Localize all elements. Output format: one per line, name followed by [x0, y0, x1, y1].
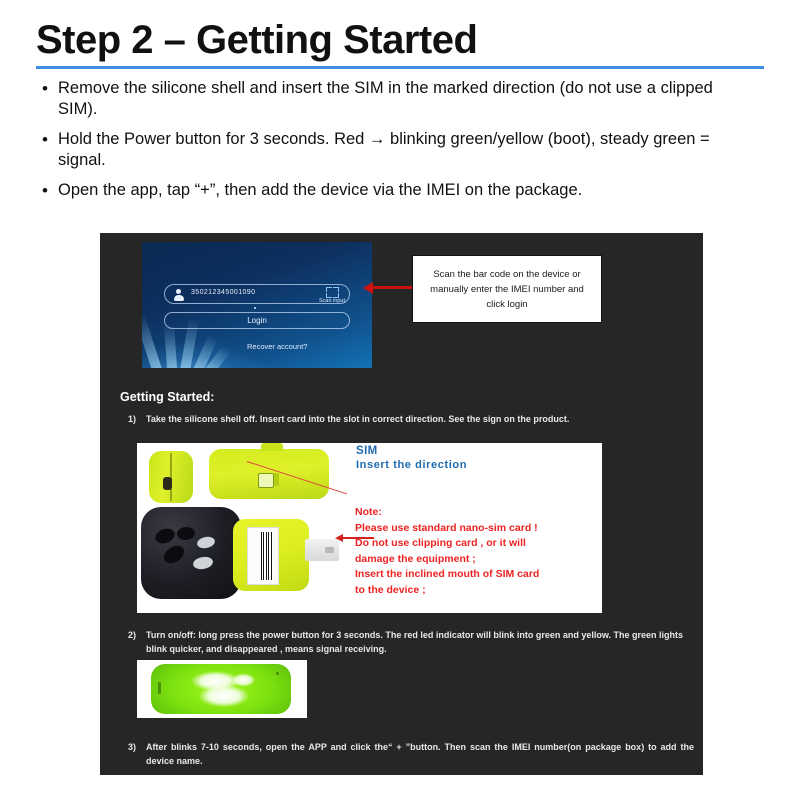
glowing-device	[151, 664, 291, 714]
sim-card	[305, 539, 339, 561]
bullet-list: • Remove the silicone shell and insert t…	[36, 78, 756, 210]
list-item: • Remove the silicone shell and insert t…	[36, 78, 756, 120]
green-led-device-photo	[137, 660, 307, 718]
sim-label-subtitle: Insert the direction	[356, 459, 467, 471]
bullet-text: Hold the Power button for 3 seconds. Red…	[58, 129, 738, 171]
login-button[interactable]: Login	[164, 312, 350, 329]
manual-step-2: 2) Turn on/off: long press the power but…	[120, 629, 694, 656]
note-line: to the device ;	[355, 583, 595, 599]
device-top-view	[209, 449, 329, 499]
note-line: Insert the inclined mouth of SIM card	[355, 567, 595, 583]
embedded-manual-panel: 350212345001090 Scan input Login Recover…	[100, 233, 703, 775]
note-line: Please use standard nano-sim card !	[355, 521, 595, 537]
bullet-marker-icon: •	[36, 78, 58, 99]
bullet-text: Open the app, tap “+”, then add the devi…	[58, 180, 582, 201]
silicone-shell-photo	[141, 507, 241, 599]
device-side-view	[149, 451, 193, 503]
login-screen-screenshot: 350212345001090 Scan input Login Recover…	[142, 242, 372, 368]
step-text: Take the silicone shell off. Insert card…	[146, 413, 694, 427]
note-line: Do not use clipping card , or it will	[355, 536, 595, 552]
recover-account-link[interactable]: Recover account?	[247, 342, 307, 351]
callout-text: Scan the bar code on the device or manua…	[413, 267, 601, 312]
getting-started-heading: Getting Started:	[120, 390, 214, 404]
bullet-marker-icon: •	[36, 129, 58, 150]
separator-dot	[254, 307, 256, 309]
step-number: 2)	[120, 629, 146, 656]
title-divider	[36, 66, 764, 69]
page-title: Step 2 – Getting Started	[36, 18, 776, 62]
imei-input[interactable]: 350212345001090 Scan input	[164, 284, 350, 304]
step-text: After blinks 7-10 seconds, open the APP …	[146, 741, 694, 768]
sim-note-text: Note: Please use standard nano-sim card …	[355, 505, 595, 598]
imei-input-value: 350212345001090	[191, 289, 255, 296]
barcode-label	[247, 527, 279, 585]
light-ray-decoration	[164, 324, 178, 368]
scan-input-label: Scan input	[319, 298, 345, 304]
note-line: Note:	[355, 505, 595, 521]
step-number: 1)	[120, 413, 146, 427]
bullet-marker-icon: •	[36, 180, 58, 201]
callout-box: Scan the bar code on the device or manua…	[412, 255, 602, 323]
note-line: damage the equipment ;	[355, 552, 595, 568]
manual-step-1: 1) Take the silicone shell off. Insert c…	[120, 413, 694, 427]
list-item: • Open the app, tap “+”, then add the de…	[36, 180, 756, 201]
list-item: • Hold the Power button for 3 seconds. R…	[36, 129, 756, 171]
scan-barcode-icon[interactable]	[326, 287, 339, 298]
bullet-text: Remove the silicone shell and insert the…	[58, 78, 738, 120]
callout-arrow-icon	[372, 286, 414, 289]
sim-label-title: SIM	[356, 445, 378, 457]
step-text: Turn on/off: long press the power button…	[146, 629, 694, 656]
step-number: 3)	[120, 741, 146, 768]
manual-step-3: 3) After blinks 7-10 seconds, open the A…	[120, 741, 694, 768]
person-icon	[173, 289, 184, 301]
device-with-label-photo	[233, 519, 309, 591]
sim-insertion-figure: SIM Insert the direction Note: Please us…	[137, 443, 602, 613]
light-ray-decoration	[142, 314, 166, 368]
